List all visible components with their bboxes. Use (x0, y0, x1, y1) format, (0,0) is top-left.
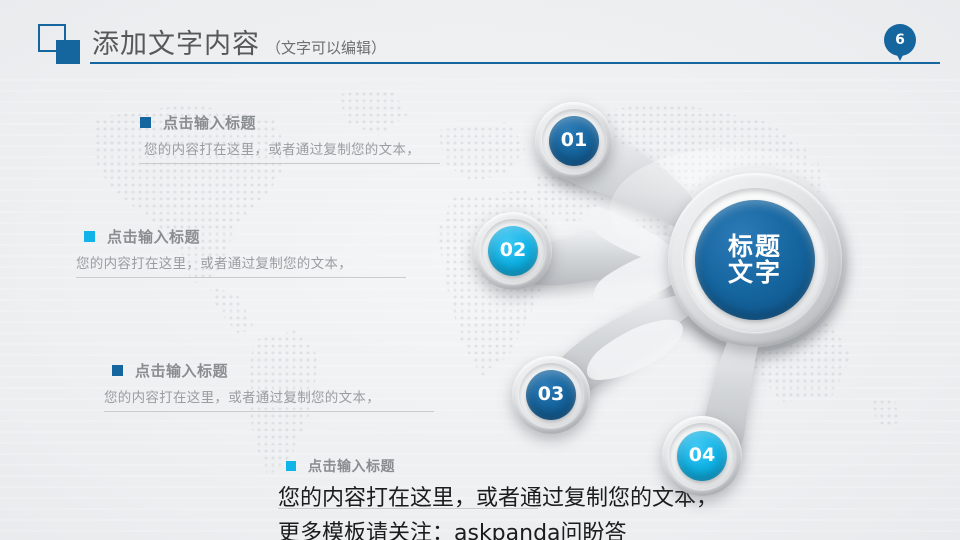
diagram-node-02[interactable]: 02 (474, 212, 552, 290)
text-block-3-title: 点击输入标题 (135, 360, 228, 381)
slide-canvas: 添加文字内容 （文字可以编辑） 6 点击输入标题 您的内容打在这里，或者通过复制… (0, 0, 960, 540)
text-block-1-underline (140, 163, 440, 164)
text-block-4-title: 点击输入标题 (308, 456, 395, 476)
circle-node-diagram: 标题 文字 01 02 03 (430, 80, 960, 540)
bullet-square-icon (286, 461, 296, 471)
text-block-3-heading: 点击输入标题 (104, 360, 434, 381)
page-number: 6 (884, 24, 916, 56)
diagram-node-01[interactable]: 01 (535, 102, 613, 180)
text-block-2-underline (76, 277, 406, 278)
hub-label-line1: 标题 (728, 232, 782, 261)
hub-node-label: 标题 文字 (728, 234, 782, 287)
diagram-node-03[interactable]: 03 (512, 356, 590, 434)
diagram-node-04[interactable]: 04 (662, 416, 742, 496)
bullet-square-icon (112, 365, 123, 376)
node-01-disc[interactable]: 01 (549, 116, 599, 166)
text-block-1[interactable]: 点击输入标题 您的内容打在这里，或者通过复制您的文本， (140, 112, 440, 164)
square-filled-icon (56, 40, 80, 64)
map-pin-icon: 6 (884, 24, 916, 66)
node-04-number: 04 (689, 446, 715, 466)
node-02-disc[interactable]: 02 (488, 226, 538, 276)
text-block-2[interactable]: 点击输入标题 您的内容打在这里，或者通过复制您的文本， (76, 226, 406, 278)
page-title-main: 添加文字内容 (92, 22, 260, 61)
node-04-disc[interactable]: 04 (677, 431, 727, 481)
text-block-1-title: 点击输入标题 (163, 112, 256, 133)
square-outline-and-filled-square-icon (38, 24, 86, 64)
node-03-disc[interactable]: 03 (526, 370, 576, 420)
text-block-3-underline (104, 411, 434, 412)
hub-node[interactable]: 标题 文字 (668, 173, 842, 347)
text-block-2-body: 您的内容打在这里，或者通过复制您的文本， (76, 252, 406, 272)
text-block-2-heading: 点击输入标题 (76, 226, 406, 247)
text-block-3-body: 您的内容打在这里，或者通过复制您的文本， (104, 386, 434, 406)
node-03-number: 03 (538, 385, 564, 405)
hub-label-line2: 文字 (728, 258, 782, 287)
slide-header: 添加文字内容 （文字可以编辑） 6 (0, 0, 960, 72)
text-block-1-heading: 点击输入标题 (140, 112, 440, 133)
node-01-number: 01 (561, 131, 587, 151)
text-block-3[interactable]: 点击输入标题 您的内容打在这里，或者通过复制您的文本， (104, 360, 434, 412)
bullet-square-icon (84, 231, 95, 242)
text-block-2-title: 点击输入标题 (107, 226, 200, 247)
page-title-subtitle: （文字可以编辑） (266, 37, 386, 58)
node-02-number: 02 (500, 241, 526, 261)
page-title: 添加文字内容 （文字可以编辑） (92, 22, 386, 61)
text-block-1-body: 您的内容打在这里，或者通过复制您的文本， (140, 138, 440, 158)
hub-node-disc[interactable]: 标题 文字 (695, 200, 815, 320)
header-divider (90, 62, 940, 64)
bullet-square-icon (140, 117, 151, 128)
